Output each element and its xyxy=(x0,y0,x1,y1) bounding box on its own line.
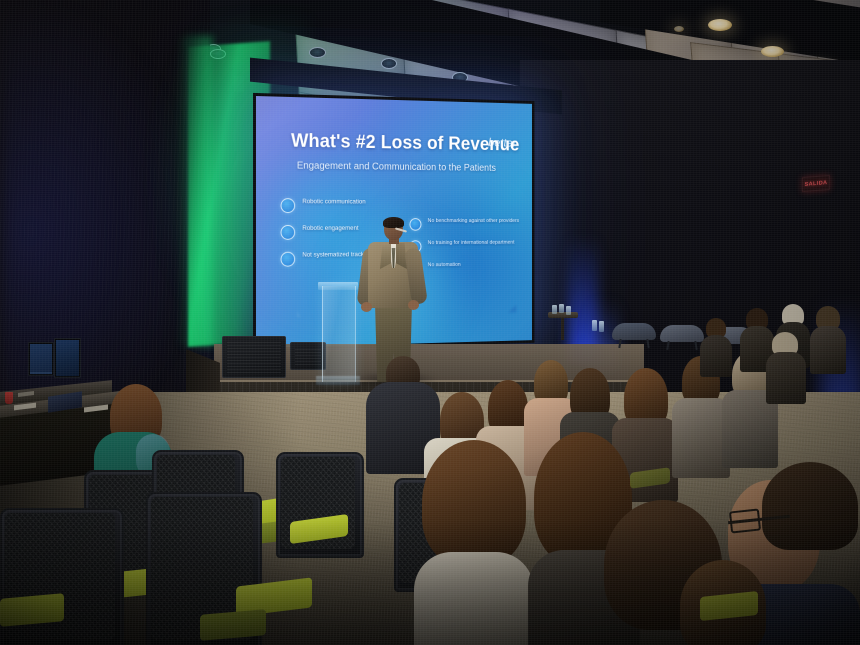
torso xyxy=(766,352,806,404)
list-item: No automation xyxy=(409,260,521,275)
bullet-label: Robotic engagement xyxy=(302,224,358,233)
presentation-photo: SALIDA What's #2 Loss of Revenue Engagem… xyxy=(0,0,860,645)
downlight-icon xyxy=(708,19,732,31)
av-monitor[interactable] xyxy=(28,342,54,376)
presenter-hand-right xyxy=(408,300,419,310)
acrylic-lectern xyxy=(322,286,356,382)
list-item: No benchmarking against other providers xyxy=(409,217,521,231)
audience-member xyxy=(810,306,846,372)
list-item: No training for international department xyxy=(409,239,521,253)
exit-sign: SALIDA xyxy=(802,175,830,192)
water-glass xyxy=(599,321,604,332)
downlight-icon xyxy=(674,26,684,32)
presenter-hair xyxy=(383,217,404,228)
red-cup xyxy=(5,392,13,404)
water-glass xyxy=(566,306,571,315)
lounge-chair xyxy=(660,320,704,350)
stage-speaker-cabinet-small xyxy=(290,342,326,370)
ring-downlight-icon xyxy=(309,47,326,58)
bullet-label: No automation xyxy=(428,261,461,269)
downlight-icon xyxy=(761,46,784,57)
slide-title: What's #2 Loss of Revenue xyxy=(291,131,519,156)
exit-sign-label: SALIDA xyxy=(805,179,828,187)
bullet-circle-icon xyxy=(281,252,296,267)
ring-downlight-icon xyxy=(381,58,397,69)
bullet-label: Robotic communication xyxy=(302,197,365,206)
torso xyxy=(810,326,846,374)
bullet-label: No benchmarking against other providers xyxy=(428,217,519,225)
side-table-leg xyxy=(561,318,564,340)
av-monitor[interactable] xyxy=(54,338,81,378)
torso xyxy=(700,335,732,377)
lounge-chair xyxy=(612,318,656,348)
presenter-hand-left xyxy=(361,302,372,312)
water-glass xyxy=(592,320,597,331)
water-glass xyxy=(559,304,564,313)
bullet-label: No training for international department xyxy=(428,239,515,247)
water-glass xyxy=(552,305,557,314)
brand-logo: better xyxy=(488,136,516,150)
slide-bullets-right: No benchmarking against other providers … xyxy=(409,217,521,284)
slide-subtitle: Engagement and Communication to the Pati… xyxy=(297,161,496,174)
audience-member xyxy=(700,318,732,376)
audience-member xyxy=(766,332,806,402)
floor-shadow-bottom xyxy=(0,520,860,645)
bullet-circle-icon xyxy=(281,225,296,240)
bullet-circle-icon xyxy=(281,198,296,213)
list-item: Robotic communication xyxy=(281,197,411,213)
stage-speaker-cabinet xyxy=(222,336,286,378)
